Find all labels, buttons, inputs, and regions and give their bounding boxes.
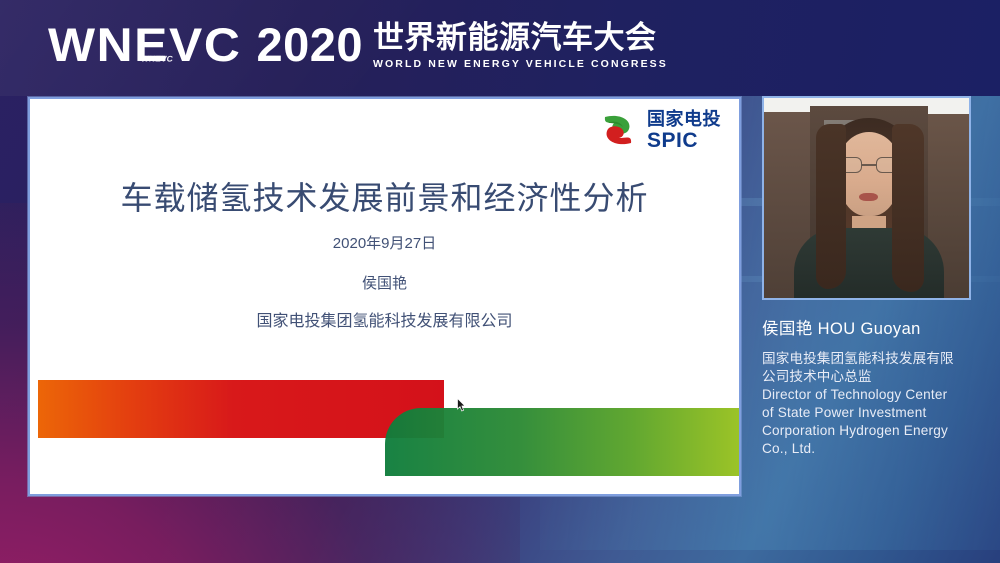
- spic-logo-text: 国家电投 SPIC: [647, 110, 721, 151]
- speaker-video-feed[interactable]: [762, 96, 971, 300]
- event-title-en: WORLD NEW ENERGY VEHICLE CONGRESS: [373, 57, 668, 71]
- speaker-title-en-line-4: Co., Ltd.: [762, 440, 994, 458]
- slide-date: 2020年9月27日: [30, 232, 739, 253]
- speaker-hair-strand-right: [892, 124, 924, 292]
- speaker-mouth: [859, 193, 878, 201]
- speaker-hair-strand-left: [816, 124, 846, 289]
- event-logo: WNEVCWNEVC 2020 世界新能源汽车大会 WORLD NEW ENER…: [48, 20, 668, 71]
- spic-logo: 国家电投 SPIC: [596, 108, 721, 152]
- speaker-face: [838, 132, 900, 216]
- speaker-title-en-line-1: Director of Technology Center: [762, 386, 994, 404]
- slide-title: 车载储氢技术发展前景和经济性分析: [30, 173, 739, 219]
- event-title-block: 世界新能源汽车大会 WORLD NEW ENERGY VEHICLE CONGR…: [373, 20, 668, 71]
- wnevc-logo-badge: WNEVC: [138, 37, 177, 82]
- speaker-info-panel: 侯国艳 HOU Guoyan 国家电投集团氢能科技发展有限 公司技术中心总监 D…: [762, 315, 994, 458]
- slide-organization: 国家电投集团氢能科技发展有限公司: [30, 307, 739, 331]
- spic-logo-mark: [596, 108, 640, 152]
- mouse-cursor-icon: [457, 398, 466, 412]
- spic-logo-cn: 国家电投: [647, 110, 721, 128]
- event-year: 2020: [256, 20, 363, 70]
- presentation-slide[interactable]: 国家电投 SPIC 车载储氢技术发展前景和经济性分析 2020年9月27日 侯国…: [28, 97, 741, 496]
- speaker-title-cn-line-1: 国家电投集团氢能科技发展有限: [762, 350, 994, 368]
- event-title-cn: 世界新能源汽车大会: [373, 20, 668, 56]
- speaker-title-cn-line-2: 公司技术中心总监: [762, 368, 994, 386]
- speaker-title-en-line-3: Corporation Hydrogen Energy: [762, 422, 994, 440]
- wnevc-wordmark: WNEVCWNEVC: [48, 20, 241, 70]
- speaker-name: 侯国艳 HOU Guoyan: [762, 315, 994, 339]
- slide-presenter-name: 侯国艳: [30, 272, 739, 293]
- slide-decor-bar-green: [385, 408, 739, 476]
- slide-decor-bar-red: [38, 380, 444, 438]
- event-year-title-block: 2020 世界新能源汽车大会 WORLD NEW ENERGY VEHICLE …: [256, 20, 667, 71]
- event-header: WNEVCWNEVC 2020 世界新能源汽车大会 WORLD NEW ENER…: [0, 0, 1000, 96]
- spic-logo-en: SPIC: [647, 130, 721, 151]
- presentation-stage: WNEVCWNEVC 2020 世界新能源汽车大会 WORLD NEW ENER…: [0, 0, 1000, 563]
- speaker-title-en-line-2: of State Power Investment: [762, 404, 994, 422]
